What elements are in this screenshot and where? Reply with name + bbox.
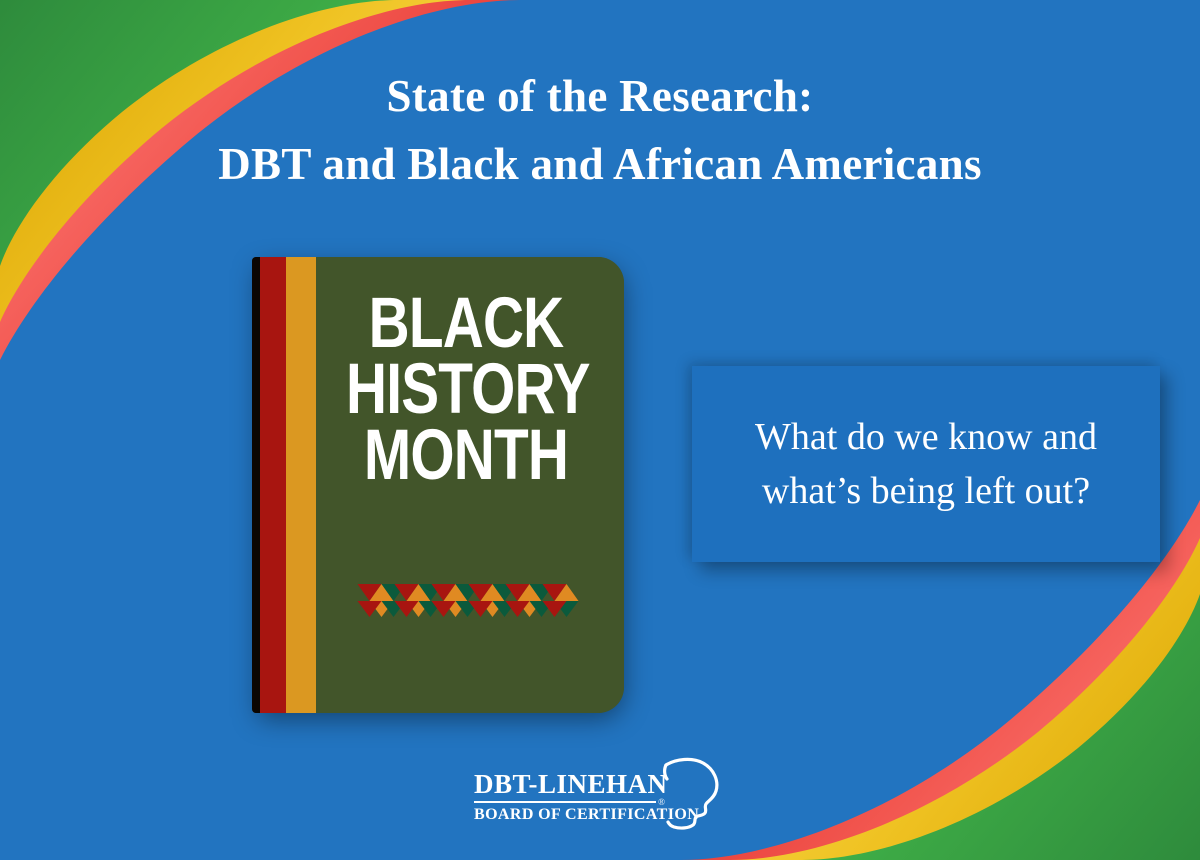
book-cover: BLACK HISTORY MONTH (316, 257, 624, 713)
question-callout-box: What do we know and what’s being left ou… (692, 366, 1160, 562)
registered-trademark-icon: ® (658, 797, 665, 807)
dbt-linehan-logo: DBT-LINEHAN ® BOARD OF CERTIFICATION (474, 757, 726, 835)
logo-top-text: DBT-LINEHAN (474, 769, 656, 799)
callout-line-2: what’s being left out? (762, 464, 1090, 518)
book-spine-gold-stripe (286, 257, 316, 713)
title-line-1: State of the Research: (0, 62, 1200, 130)
book-title-line-1: BLACK (346, 291, 586, 357)
book-title-line-3: MONTH (346, 423, 586, 489)
callout-line-1: What do we know and (755, 410, 1097, 464)
face-profile-icon (662, 757, 724, 835)
logo-bottom-text: BOARD OF CERTIFICATION (474, 806, 656, 824)
book-spine-black-stripe (252, 257, 260, 713)
book-spine-red-stripe (260, 257, 286, 713)
black-history-month-book: BLACK HISTORY MONTH (252, 257, 624, 713)
book-cover-title: BLACK HISTORY MONTH (316, 291, 616, 489)
logo-divider: ® (474, 801, 656, 803)
logo-wordmark: DBT-LINEHAN ® BOARD OF CERTIFICATION (474, 769, 656, 824)
triangle-band-ornament (358, 580, 583, 620)
page-title: State of the Research: DBT and Black and… (0, 62, 1200, 198)
book-title-line-2: HISTORY (346, 357, 586, 423)
slide-canvas: State of the Research: DBT and Black and… (0, 0, 1200, 860)
title-line-2: DBT and Black and African Americans (0, 130, 1200, 198)
book-body: BLACK HISTORY MONTH (252, 257, 624, 713)
